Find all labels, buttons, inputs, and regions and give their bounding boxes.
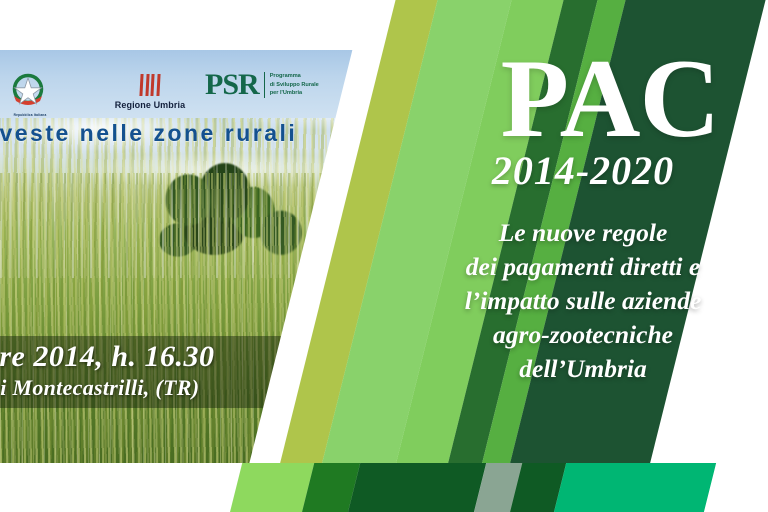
page-title: PAC bbox=[452, 48, 768, 151]
psr-logo: PSR Programma di Sviluppo Rurale per l'U… bbox=[205, 70, 319, 100]
headline-subtitle-line-2: dei pagamenti diretti e bbox=[398, 250, 768, 284]
psr-tagline-line3: per l'Umbria bbox=[270, 89, 319, 98]
psr-tagline: Programma di Sviluppo Rurale per l'Umbri… bbox=[264, 72, 319, 98]
lower-stripe-host bbox=[0, 463, 768, 512]
lower-stripe-band bbox=[0, 463, 768, 512]
umbria-bars-icon bbox=[104, 74, 196, 96]
regione-umbria-logo: Regione Umbria bbox=[104, 74, 196, 110]
event-date: mbre 2014, h. 16.30 bbox=[0, 340, 440, 374]
eu-slogan: investe nelle zone rurali bbox=[0, 120, 374, 147]
headline-subtitle: Le nuove regoledei pagamenti diretti el’… bbox=[398, 216, 768, 386]
lower-stripe-dark-green bbox=[343, 463, 491, 512]
headline-subtitle-line-1: Le nuove regole bbox=[398, 216, 768, 250]
psr-acronym: PSR bbox=[205, 70, 259, 100]
republic-caption: Repubblica Italiana bbox=[2, 114, 58, 118]
sponsor-logo-row: Repubblica Italiana Regione Umbria PSR P… bbox=[0, 62, 440, 124]
lower-stripe-white bbox=[0, 463, 247, 512]
regione-umbria-label: Regione Umbria bbox=[104, 100, 196, 110]
lower-stripe-emerald bbox=[549, 463, 721, 512]
headline-subtitle-line-3: l’impatto sulle aziende bbox=[398, 284, 768, 318]
headline-subtitle-line-5: dell’Umbria bbox=[398, 352, 768, 386]
headline-panel: PAC 2014-2020 Le nuove regoledei pagamen… bbox=[398, 48, 768, 386]
headline-subtitle-line-4: agro-zootecniche bbox=[398, 318, 768, 352]
psr-tagline-line1: Programma bbox=[270, 72, 319, 81]
psr-tagline-line2: di Sviluppo Rurale bbox=[270, 81, 319, 90]
poster-canvas: Repubblica Italiana Regione Umbria PSR P… bbox=[0, 0, 768, 512]
